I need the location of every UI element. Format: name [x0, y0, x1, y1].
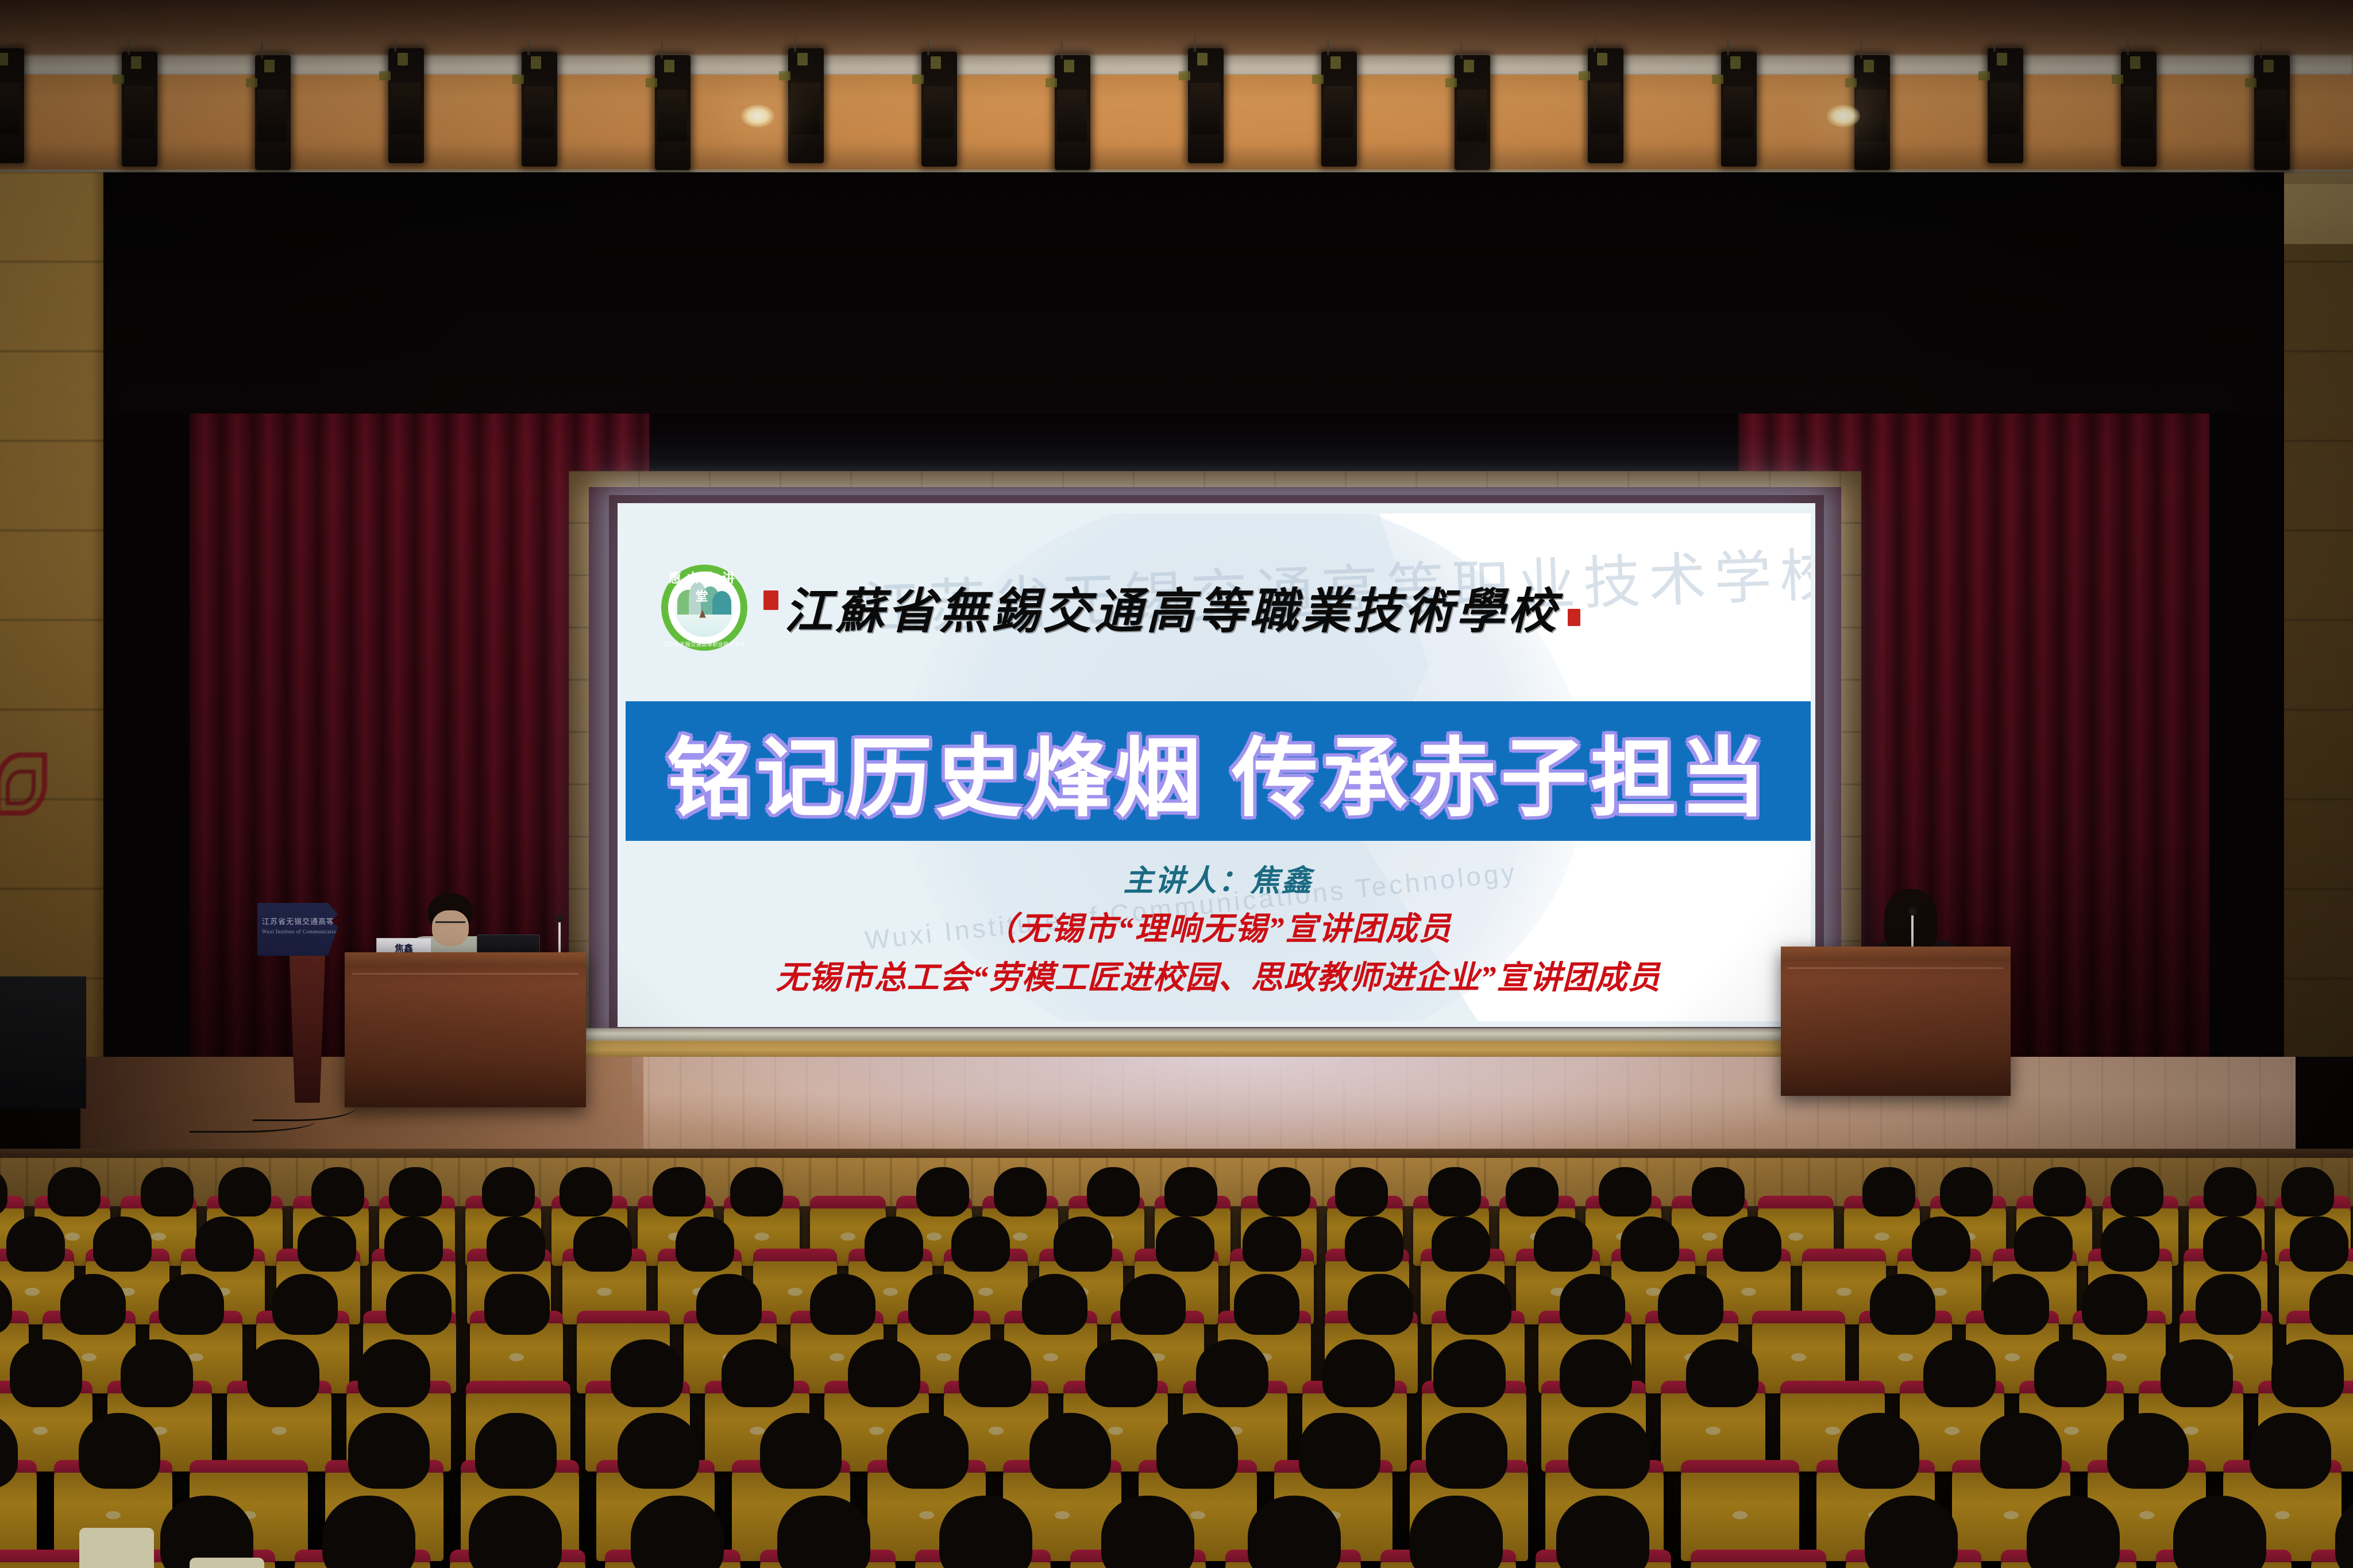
presentation-slide: 江苏省无锡交通高等职业技术学校 Wuxi Institute of Commun…	[626, 513, 1811, 1021]
auditorium-seat[interactable]	[1681, 1468, 1799, 1561]
stage-light-fixture	[122, 52, 157, 167]
stage-light-tag-icon	[1464, 60, 1474, 72]
stage-light-fixture	[655, 55, 691, 170]
seat-number-plate	[188, 1353, 203, 1361]
audience-member-head	[2161, 1339, 2233, 1407]
audience-member-head	[2111, 1167, 2163, 1216]
seat-number-plate	[1837, 1288, 1851, 1296]
audience-member-head	[2204, 1167, 2256, 1216]
audience-member-head	[1345, 1216, 1403, 1272]
audience-member-head	[2271, 1339, 2344, 1407]
seat-number-plate	[2275, 1511, 2290, 1519]
seat-number-plate	[989, 1427, 1004, 1435]
seat-number-plate	[2004, 1511, 2019, 1519]
audience-seating-area	[0, 1206, 2353, 1568]
audience-member-head	[887, 1413, 969, 1489]
audience-member-head	[1410, 1496, 1503, 1568]
seat-number-plate	[830, 1353, 844, 1361]
audience-member-head	[298, 1216, 356, 1272]
audience-member-head	[2101, 1216, 2159, 1272]
seat-number-plate	[1190, 1511, 1205, 1519]
podium-left	[345, 952, 586, 1107]
seat-number-plate	[1825, 1427, 1840, 1435]
audience-member-head	[1984, 1274, 2049, 1335]
seat-number-plate	[750, 1427, 765, 1435]
audience-member-head	[272, 1274, 338, 1335]
podium-right-rail	[1788, 967, 2004, 969]
stage-light-body	[257, 90, 287, 141]
podium-left-rail	[352, 973, 579, 975]
audience-member-head	[1299, 1413, 1380, 1489]
stage-light-fixture	[1321, 52, 1357, 167]
seat-number-plate	[509, 1353, 524, 1361]
stage-light-fixture	[1854, 55, 1890, 170]
audience-member-head	[1686, 1339, 1758, 1407]
audience-member-head	[6, 1216, 65, 1272]
audience-member-head	[1335, 1167, 1388, 1216]
lectern-sign-chinese: 江苏省无锡交通高等职业技术学校	[262, 916, 334, 926]
audience-member-head	[1692, 1167, 1745, 1216]
audience-member-head	[48, 1167, 101, 1216]
ceiling-spot-light	[1827, 105, 1860, 128]
audience-member-head	[2027, 1496, 2120, 1568]
seat-number-plate	[1945, 1427, 1959, 1435]
audience-member-head	[1196, 1339, 1268, 1407]
audience-member-head	[1556, 1496, 1649, 1568]
seat-number-plate	[1898, 1353, 1913, 1361]
audience-member-head	[121, 1339, 193, 1407]
stage-light-tag-icon	[2130, 56, 2140, 69]
seat-number-plate	[65, 1233, 80, 1241]
audience-member-head	[777, 1496, 870, 1568]
stage-light-fixture	[522, 52, 557, 167]
audience-member-head	[1029, 1413, 1111, 1489]
audience-member-head	[1101, 1496, 1194, 1568]
audience-member-head	[322, 1496, 415, 1568]
slide-main-title: 铭记历史烽烟 传承赤子担当	[667, 709, 1770, 833]
slide-speaker-line: 主讲人：焦鑫	[626, 856, 1811, 899]
stage-light-fixture	[0, 48, 24, 163]
stage-loudspeaker	[0, 976, 86, 1109]
stage-light-fixture	[788, 48, 824, 163]
audience-member-head	[93, 1216, 152, 1272]
audience-member-head	[2014, 1216, 2073, 1272]
podium-left-diamond-inlay	[354, 979, 576, 1095]
audience-member-head	[1164, 1167, 1217, 1216]
seat-number-plate	[1108, 1427, 1123, 1435]
stage-light-body	[790, 83, 820, 134]
audience-member-head	[1120, 1274, 1186, 1335]
audience-member-head	[384, 1216, 443, 1272]
audience-member-head	[469, 1496, 562, 1568]
stage-light-body	[391, 83, 421, 134]
stage-light-body	[1324, 86, 1353, 138]
stage-light-body	[924, 86, 954, 138]
audience-member-head	[475, 1413, 557, 1489]
glasses-icon	[435, 921, 465, 923]
audience-member-head	[1940, 1167, 1993, 1216]
stage-light-tag-icon	[1597, 53, 1607, 65]
seat-number-plate	[840, 1233, 855, 1241]
seat-number-plate	[1013, 1233, 1028, 1241]
slide-title-band: 铭记历史烽烟 传承赤子担当	[626, 701, 1811, 841]
calligraphy-school-name: 江蘇省無錫交通高等職業技術學校	[784, 573, 1560, 642]
seat-number-plate	[2005, 1353, 2020, 1361]
ceiling-spot-light	[741, 105, 774, 128]
logo-top-text: 惠山大讲堂	[661, 568, 747, 605]
seat-number-plate	[1788, 1233, 1803, 1241]
podium-left-top	[345, 952, 586, 967]
stage-light-body	[1190, 83, 1220, 134]
seat-number-plate	[927, 1233, 942, 1241]
stage-light-tag-icon	[0, 53, 8, 65]
seat-number-plate	[33, 1427, 48, 1435]
audience-member-head	[1432, 1216, 1490, 1272]
audience-member-head	[611, 1339, 683, 1407]
audience-member-head	[1912, 1216, 1970, 1272]
seated-speaker-left-face	[432, 910, 469, 946]
lectern-school-sign: 江苏省无锡交通高等职业技术学校 Wuxi Institute of Commun…	[257, 903, 338, 956]
audience-member-head	[1560, 1274, 1625, 1335]
audience-member-head	[696, 1274, 762, 1335]
audience-member-head	[1054, 1216, 1112, 1272]
auditorium-photo: 江苏省无锡交通高等职业技术学校 Wuxi Institute of Commun…	[0, 0, 2353, 1568]
seat-number-plate	[1055, 1511, 1070, 1519]
audience-member-head	[1248, 1496, 1341, 1568]
stage-light-tag-icon	[931, 56, 941, 69]
audience-member-head	[1568, 1413, 1650, 1489]
audience-member-head	[631, 1496, 724, 1568]
audience-member-head	[1022, 1274, 1087, 1335]
calligraphy-title-group: 江蘇省無錫交通高等職業技術學校	[763, 573, 1811, 642]
audience-member-head	[1156, 1413, 1238, 1489]
audience-member-head	[348, 1413, 430, 1489]
stage-light-tag-icon	[797, 53, 808, 65]
seat-number-plate	[82, 1353, 97, 1361]
audience-member-head	[2196, 1274, 2261, 1335]
stage-light-fixture	[921, 52, 957, 167]
audience-member-head	[1870, 1274, 1935, 1335]
stage-light-fixture	[1055, 55, 1090, 170]
audience-member-head	[1085, 1339, 1158, 1407]
seat-number-plate	[883, 1288, 898, 1296]
audience-member-head	[1322, 1339, 1395, 1407]
stage-light-tag-icon	[398, 53, 408, 65]
stage-light-body	[1457, 90, 1487, 141]
audience-member-head	[939, 1496, 1032, 1568]
seat-number-plate	[919, 1511, 934, 1519]
audience-member-head	[1087, 1167, 1140, 1216]
stage-light-tag-icon	[531, 56, 541, 69]
seat-number-plate	[2184, 1427, 2198, 1435]
audience-member-head	[2173, 1496, 2266, 1568]
seat-number-plate	[25, 1288, 40, 1296]
seat-number-plate	[151, 1233, 166, 1241]
audience-member-head	[386, 1274, 452, 1335]
wall-ornament-inner-icon	[6, 770, 36, 805]
stage-floor-highlight	[632, 1057, 1838, 1160]
audience-member-head	[1348, 1274, 1413, 1335]
stage-light-fixture	[1588, 48, 1623, 163]
stage-light-body	[1590, 83, 1620, 134]
stage-light-tag-icon	[1197, 53, 1208, 65]
seat-number-plate	[597, 1288, 612, 1296]
stage-light-body	[1057, 90, 1087, 141]
audience-member-head	[730, 1167, 783, 1216]
stage-light-fixture	[2254, 55, 2290, 170]
podium-right-diamond-inlay	[1790, 973, 2001, 1083]
slide-header: 惠山大讲堂 江苏省无锡交通高等职业技术学校 江蘇省無錫交通高等職業技術學校	[626, 513, 1811, 701]
seat-number-plate	[869, 1427, 884, 1435]
slide-org-line-2: 无锡市总工会“劳模工匠进校园、思政教师进企业”宣讲团成员	[626, 952, 1811, 998]
audience-member-head	[487, 1216, 545, 1272]
audience-member-head	[1446, 1274, 1511, 1335]
audience-member-head	[247, 1339, 319, 1407]
seat-number-plate	[272, 1427, 287, 1435]
audience-member-head	[1243, 1216, 1301, 1272]
stage-light-tag-icon	[1330, 56, 1341, 69]
audience-member-head	[389, 1167, 442, 1216]
stage-light-tag-icon	[1864, 60, 1874, 72]
audience-member-head	[1599, 1167, 1652, 1216]
stage-light-body	[657, 90, 687, 141]
podium-right-top	[1781, 947, 2011, 961]
seat-number-plate	[754, 1233, 769, 1241]
stage-light-body	[1857, 90, 1887, 141]
audience-member-head	[653, 1167, 705, 1216]
audience-member-head	[358, 1339, 430, 1407]
stage-light-body	[2256, 90, 2286, 141]
seat-number-plate	[106, 1511, 121, 1519]
seat-number-plate	[1043, 1353, 1058, 1361]
audience-member-head	[1723, 1216, 1781, 1272]
slide-org-line-1: （无锡市“理响无锡”宣讲团成员	[626, 903, 1811, 949]
seat-number-plate	[1706, 1427, 1721, 1435]
audience-member-head	[865, 1216, 923, 1272]
audience-member-head	[1234, 1274, 1299, 1335]
seat-number-plate	[1874, 1233, 1889, 1241]
audience-member-head	[2082, 1274, 2147, 1335]
audience-member-head	[2033, 1167, 2086, 1216]
audience-member-head	[573, 1216, 632, 1272]
audience-member-head	[722, 1339, 794, 1407]
audience-member-head	[60, 1274, 126, 1335]
audience-member-head	[810, 1274, 875, 1335]
stage-light-fixture	[255, 55, 291, 170]
audience-member-head	[1621, 1216, 1679, 1272]
audience-member-head	[560, 1167, 612, 1216]
seat-number-plate	[2112, 1353, 2127, 1361]
seat-number-plate	[2064, 1427, 2079, 1435]
logo-bottom-text: 江苏省无锡交通高等职业技术学校	[661, 640, 747, 648]
audience-member-head	[1865, 1496, 1958, 1568]
audience-member-head	[2034, 1339, 2107, 1407]
audience-member-head	[1428, 1167, 1481, 1216]
audience-member-head	[159, 1274, 224, 1335]
audience-member-head	[676, 1216, 734, 1272]
stage-light-body	[1990, 83, 2020, 134]
audience-member-head	[2281, 1167, 2334, 1216]
stage-light-tag-icon	[264, 60, 275, 72]
audience-member-head	[2107, 1413, 2189, 1489]
stage-light-tag-icon	[664, 60, 674, 72]
audience-member-head	[1534, 1216, 1592, 1272]
seat-number-plate	[1932, 1288, 1947, 1296]
audience-member-head	[618, 1413, 699, 1489]
stage-light-fixture	[1455, 55, 1490, 170]
audience-member-head	[2290, 1216, 2348, 1272]
stage-light-fixture	[388, 48, 424, 163]
stage-light-body	[524, 86, 554, 138]
audience-member-head	[916, 1167, 969, 1216]
seat-number-plate	[1702, 1233, 1717, 1241]
audience-member-garment	[79, 1528, 154, 1568]
stage-light-tag-icon	[1064, 60, 1074, 72]
audience-member-head	[484, 1274, 550, 1335]
seat-number-plate	[936, 1353, 951, 1361]
slide-footer: 主讲人：焦鑫 （无锡市“理响无锡”宣讲团成员 无锡市总工会“劳模工匠进校园、思政…	[626, 846, 1811, 1021]
stage-light-fixture	[1988, 48, 2023, 163]
audience-member-head	[2203, 1216, 2262, 1272]
audience-member-garment	[190, 1558, 264, 1568]
audience-member-head	[1658, 1274, 1723, 1335]
audience-member-head	[195, 1216, 254, 1272]
stage-valance	[103, 172, 2284, 414]
stage-light-body	[2123, 86, 2153, 138]
audience-member-head	[2250, 1413, 2331, 1489]
audience-member-head	[1426, 1413, 1507, 1489]
seat-number-plate	[1741, 1288, 1756, 1296]
stage-light-fixture	[2121, 52, 2157, 167]
stage-light-tag-icon	[1997, 53, 2007, 65]
audience-member-head	[1980, 1413, 2062, 1489]
seat-number-plate	[1733, 1511, 1748, 1519]
logo-water-icon	[675, 615, 734, 637]
stage-light-tag-icon	[131, 56, 141, 69]
audience-member-head	[959, 1339, 1031, 1407]
seated-speaker-right-hair	[1884, 889, 1937, 952]
red-seal-left-icon	[763, 590, 778, 610]
audience-member-head	[1838, 1413, 1919, 1489]
stage-light-body	[0, 83, 21, 134]
audience-member-head	[1560, 1339, 1632, 1407]
lectern-sign-english: Wuxi Institute of Communications technol…	[262, 929, 334, 934]
audience-member-head	[848, 1339, 920, 1407]
school-logo-icon: 惠山大讲堂 江苏省无锡交通高等职业技术学校	[661, 565, 747, 651]
stage-light-fixture	[1188, 48, 1224, 163]
stage-light-tag-icon	[1730, 56, 1741, 69]
seat-number-plate	[978, 1288, 993, 1296]
audience-member-head	[951, 1216, 1010, 1272]
stage-light-body	[124, 86, 154, 138]
audience-member-head	[141, 1167, 194, 1216]
audience-member-head	[79, 1413, 160, 1489]
stage-light-body	[1723, 86, 1753, 138]
audience-member-head	[1506, 1167, 1559, 1216]
microphone-left-icon	[558, 920, 561, 952]
audience-member-head	[311, 1167, 364, 1216]
audience-member-head	[1257, 1167, 1310, 1216]
audience-member-head	[994, 1167, 1047, 1216]
audience-member-head	[760, 1413, 842, 1489]
seat-number-plate	[1791, 1353, 1806, 1361]
audience-member-head	[908, 1274, 974, 1335]
audience-member-head	[1156, 1216, 1214, 1272]
seat-number-plate	[788, 1288, 803, 1296]
microphone-right-icon	[1911, 913, 1914, 949]
audience-member-head	[10, 1339, 82, 1407]
seat-number-plate	[2139, 1511, 2154, 1519]
led-presentation-screen[interactable]: 江苏省无锡交通高等职业技术学校 Wuxi Institute of Commun…	[618, 503, 1815, 1027]
red-seal-right-icon	[1568, 609, 1580, 626]
stage-light-tag-icon	[2263, 60, 2274, 72]
auditorium-seat[interactable]	[1691, 1558, 1826, 1568]
audience-member-head	[482, 1167, 535, 1216]
audience-member-head	[1923, 1339, 1996, 1407]
audience-member-head	[1433, 1339, 1506, 1407]
audience-member-head	[1862, 1167, 1915, 1216]
audience-member-head	[218, 1167, 271, 1216]
stage-light-fixture	[1721, 52, 1757, 167]
podium-right	[1781, 947, 2011, 1096]
